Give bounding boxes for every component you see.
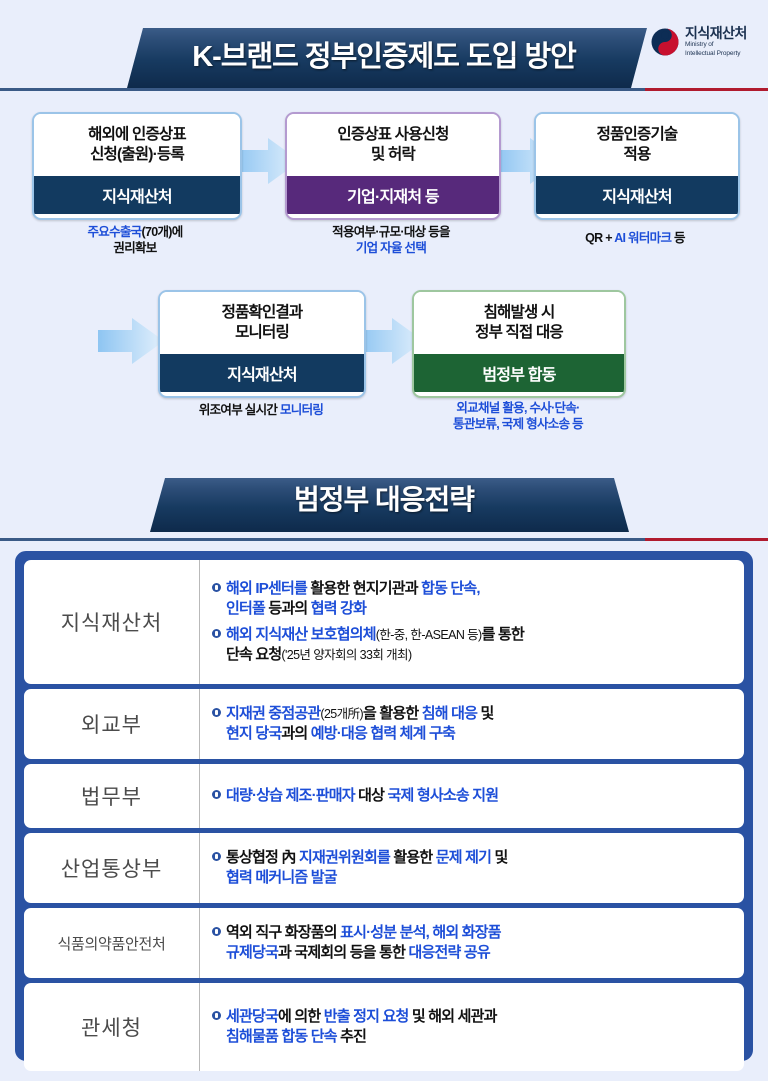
section-title: 범정부 대응전략 bbox=[0, 478, 768, 518]
flow-box-4-title: 정품확인결과모니터링 bbox=[160, 292, 364, 354]
flow-box-4-caption: 위조여부 실시간 모니터링 bbox=[148, 402, 374, 418]
agency-measures: 세관당국에 의한 반출 정지 요청 및 해외 세관과침해물품 합동 단속 추진 bbox=[200, 983, 744, 1071]
flow-box-5-owner: 범정부 합동 bbox=[414, 354, 624, 392]
flow-box-3-caption: QR + AI 워터마크 등 bbox=[525, 230, 745, 246]
logo-english-line1: Ministry of bbox=[685, 42, 747, 49]
flow-box-1-caption: 주요수출국(70개)에권리확보 bbox=[20, 224, 250, 257]
agency-measures: 지재권 중점공관(25개所)을 활용한 침해 대응 및현지 당국과의 예방·대응… bbox=[200, 689, 744, 759]
list-item: 세관당국에 의한 반출 정지 요청 및 해외 세관과침해물품 합동 단속 추진 bbox=[212, 1007, 736, 1047]
bullet-icon bbox=[212, 583, 221, 592]
agency-measures: 역외 직구 화장품의 표시·성분 분석, 해외 화장품규제당국과 국제회의 등을… bbox=[200, 908, 744, 978]
flow-box-2-caption: 적용여부·규모·대상 등을기업 자율 선택 bbox=[276, 224, 506, 257]
agency-label: 산업통상부 bbox=[24, 833, 200, 903]
ministry-logo: 지식재산처 Ministry of Intellectual Property bbox=[650, 26, 747, 58]
measure-text: 세관당국에 의한 반출 정지 요청 및 해외 세관과침해물품 합동 단속 추진 bbox=[226, 1007, 497, 1047]
flow-box-2: 인증상표 사용신청및 허락 기업·지재처 등 bbox=[285, 112, 501, 220]
logo-korean-name: 지식재산처 bbox=[685, 26, 747, 40]
taegeuk-logo-icon bbox=[650, 27, 680, 57]
flow-box-4-owner: 지식재산처 bbox=[160, 354, 364, 392]
list-item: 역외 직구 화장품의 표시·성분 분석, 해외 화장품규제당국과 국제회의 등을… bbox=[212, 923, 736, 963]
agency-label: 외교부 bbox=[24, 689, 200, 759]
flow-box-1-owner: 지식재산처 bbox=[34, 176, 240, 214]
table-row: 관세청 세관당국에 의한 반출 정지 요청 및 해외 세관과침해물품 합동 단속… bbox=[24, 983, 744, 1071]
list-item: 대량·상습 제조·판매자 대상 국제 형사소송 지원 bbox=[212, 786, 736, 806]
bullet-icon bbox=[212, 629, 221, 638]
measure-text: 대량·상습 제조·판매자 대상 국제 형사소송 지원 bbox=[226, 786, 498, 806]
list-item: 해외 IP센터를 활용한 현지기관과 합동 단속,인터폴 등과의 협력 강화 bbox=[212, 579, 736, 619]
list-item: 지재권 중점공관(25개所)을 활용한 침해 대응 및현지 당국과의 예방·대응… bbox=[212, 704, 736, 744]
bullet-icon bbox=[212, 790, 221, 799]
agency-measures: 대량·상습 제조·판매자 대상 국제 형사소송 지원 bbox=[200, 764, 744, 828]
flow-box-5: 침해발생 시정부 직접 대응 범정부 합동 bbox=[412, 290, 626, 398]
flow-box-3-owner: 지식재산처 bbox=[536, 176, 738, 214]
flow-box-3-title: 정품인증기술적용 bbox=[536, 114, 738, 176]
table-row: 지식재산처 해외 IP센터를 활용한 현지기관과 합동 단속,인터폴 등과의 협… bbox=[24, 560, 744, 684]
agency-label: 식품의약품안전처 bbox=[24, 908, 200, 978]
logo-english-line2: Intellectual Property bbox=[685, 51, 747, 58]
bullet-icon bbox=[212, 852, 221, 861]
list-item: 해외 지식재산 보호협의체(한-중, 한-ASEAN 등)를 통한단속 요청('… bbox=[212, 625, 736, 665]
flow-box-1: 해외에 인증상표신청(출원)·등록 지식재산처 bbox=[32, 112, 242, 220]
bullet-icon bbox=[212, 927, 221, 936]
measure-text: 통상협정 內 지재권위원회를 활용한 문제 제기 및협력 메커니즘 발굴 bbox=[226, 848, 507, 888]
measure-text: 해외 지식재산 보호협의체(한-중, 한-ASEAN 등)를 통한단속 요청('… bbox=[226, 625, 524, 665]
agency-label: 법무부 bbox=[24, 764, 200, 828]
strategy-table: 지식재산처 해외 IP센터를 활용한 현지기관과 합동 단속,인터폴 등과의 협… bbox=[15, 551, 753, 1061]
table-row: 법무부 대량·상습 제조·판매자 대상 국제 형사소송 지원 bbox=[24, 764, 744, 828]
flow-box-5-title: 침해발생 시정부 직접 대응 bbox=[414, 292, 624, 354]
table-row: 외교부 지재권 중점공관(25개所)을 활용한 침해 대응 및현지 당국과의 예… bbox=[24, 689, 744, 759]
flow-box-1-title: 해외에 인증상표신청(출원)·등록 bbox=[34, 114, 240, 176]
flow-box-3: 정품인증기술적용 지식재산처 bbox=[534, 112, 740, 220]
flow-box-2-title: 인증상표 사용신청및 허락 bbox=[287, 114, 499, 176]
measure-text: 지재권 중점공관(25개所)을 활용한 침해 대응 및현지 당국과의 예방·대응… bbox=[226, 704, 494, 744]
arrow-right-icon bbox=[98, 316, 166, 366]
measure-text: 해외 IP센터를 활용한 현지기관과 합동 단속,인터폴 등과의 협력 강화 bbox=[226, 579, 480, 619]
agency-label: 지식재산처 bbox=[24, 560, 200, 684]
list-item: 통상협정 內 지재권위원회를 활용한 문제 제기 및협력 메커니즘 발굴 bbox=[212, 848, 736, 888]
agency-measures: 해외 IP센터를 활용한 현지기관과 합동 단속,인터폴 등과의 협력 강화 해… bbox=[200, 560, 744, 684]
agency-label: 관세청 bbox=[24, 983, 200, 1071]
flow-box-5-caption: 외교채널 활용, 수사·단속·통관보류, 국제 형사소송 등 bbox=[402, 400, 634, 433]
measure-text: 역외 직구 화장품의 표시·성분 분석, 해외 화장품규제당국과 국제회의 등을… bbox=[226, 923, 501, 963]
table-row: 산업통상부 통상협정 內 지재권위원회를 활용한 문제 제기 및협력 메커니즘 … bbox=[24, 833, 744, 903]
bullet-icon bbox=[212, 708, 221, 717]
table-row: 식품의약품안전처 역외 직구 화장품의 표시·성분 분석, 해외 화장품규제당국… bbox=[24, 908, 744, 978]
flow-box-2-owner: 기업·지재처 등 bbox=[287, 176, 499, 214]
flow-box-4: 정품확인결과모니터링 지식재산처 bbox=[158, 290, 366, 398]
bullet-icon bbox=[212, 1011, 221, 1020]
agency-measures: 통상협정 內 지재권위원회를 활용한 문제 제기 및협력 메커니즘 발굴 bbox=[200, 833, 744, 903]
